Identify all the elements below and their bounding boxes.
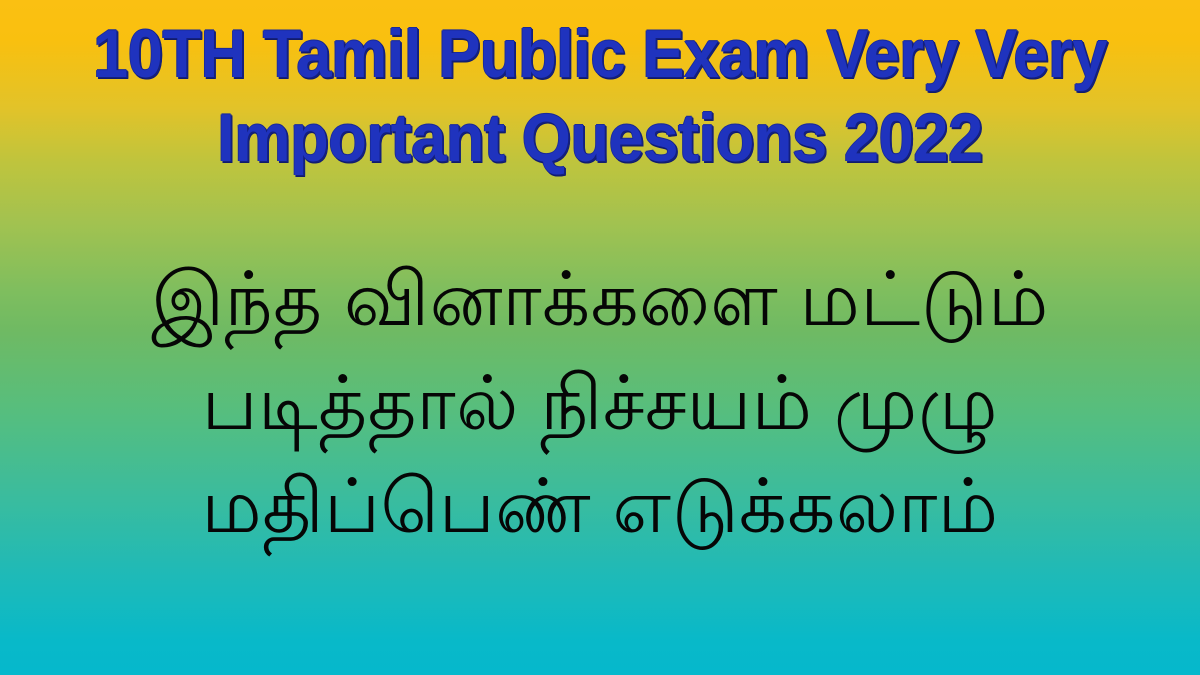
tamil-line-1: இந்த வினாக்களை மட்டும் [0,248,1200,352]
tamil-line-2: படித்தால் நிச்சயம் முழு [0,352,1200,456]
headline-line-1: 10TH Tamil Public Exam Very Very [42,16,1158,94]
page-title: 10TH Tamil Public Exam Very Very Importa… [0,16,1200,177]
poster-canvas: 10TH Tamil Public Exam Very Very Importa… [0,0,1200,675]
tamil-message: இந்த வினாக்களை மட்டும் படித்தால் நிச்சயம… [0,248,1200,559]
tamil-line-3: மதிப்பெண் எடுக்கலாம் [0,455,1200,559]
headline-line-2: Important Questions 2022 [42,100,1158,178]
